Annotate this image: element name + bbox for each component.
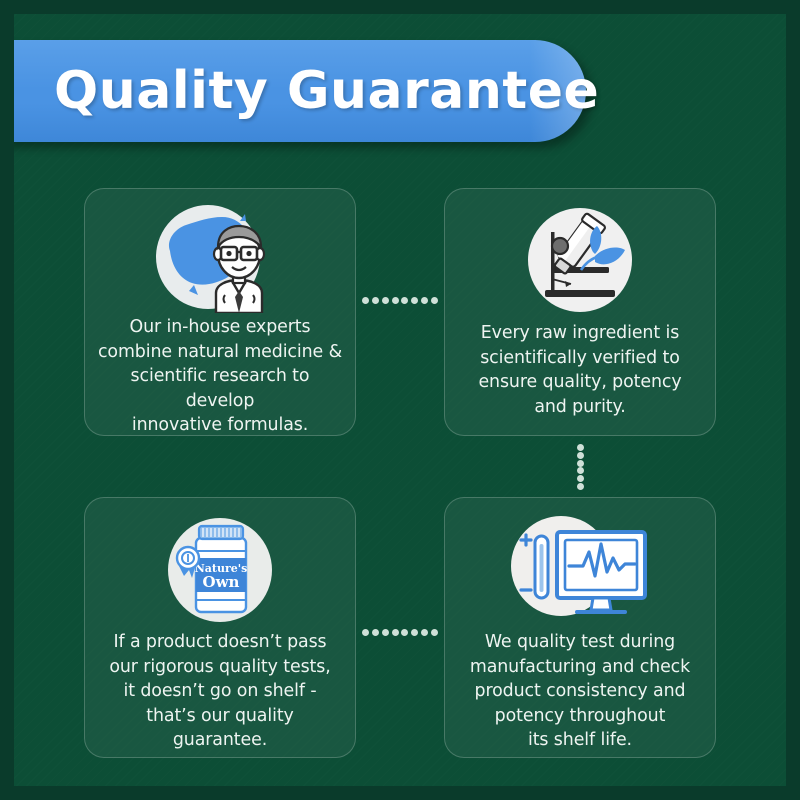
connector-dot [577, 460, 584, 467]
connector-dot [382, 297, 389, 304]
connector-dot [431, 629, 438, 636]
connector-dot [431, 297, 438, 304]
connector-dot [577, 475, 584, 482]
microscope-leaf-icon [521, 201, 639, 319]
connector-dot [362, 297, 369, 304]
connector-dot [392, 629, 399, 636]
connector-dot [577, 452, 584, 459]
card-manufacturing-quality-test: We quality test during manufacturing and… [444, 497, 716, 758]
card-text: We quality test during manufacturing and… [458, 630, 702, 753]
connector-dot [401, 629, 408, 636]
connector-dot [362, 629, 369, 636]
connector-dot [411, 629, 418, 636]
australia-map-scientist-icon [144, 201, 296, 313]
connector-dot [421, 629, 428, 636]
banner: Quality Guarantee [0, 40, 586, 142]
page-title: Quality Guarantee [54, 61, 599, 121]
connector-bottom-horizontal [362, 628, 438, 636]
bottle-label-line2: Own [203, 573, 240, 591]
connector-dot [577, 483, 584, 490]
connector-dot [577, 467, 584, 474]
connector-dot [411, 297, 418, 304]
connector-dot [372, 629, 379, 636]
connector-right-vertical [576, 444, 584, 490]
frame-edge-bottom [0, 786, 800, 800]
infographic-canvas: Quality Guarantee [0, 0, 800, 800]
natures-own-bottle-ribbon-icon: Nature's Own [157, 512, 283, 628]
connector-dot [392, 297, 399, 304]
connector-dot [382, 629, 389, 636]
connector-top-horizontal [362, 296, 438, 304]
connector-dot [577, 444, 584, 451]
frame-edge-top [0, 0, 800, 14]
monitor-thermometer-icon [505, 512, 655, 628]
card-text: Our in-house experts combine natural med… [85, 315, 355, 438]
frame-edge-left [0, 0, 14, 800]
card-text: If a product doesn’t pass our rigorous q… [85, 630, 355, 753]
connector-dot [372, 297, 379, 304]
frame-edge-right [786, 0, 800, 800]
connector-dot [421, 297, 428, 304]
connector-dot [401, 297, 408, 304]
card-text: Every raw ingredient is scientifically v… [466, 321, 693, 419]
card-raw-ingredient-verification: Every raw ingredient is scientifically v… [444, 188, 716, 436]
card-in-house-experts: Our in-house experts combine natural med… [84, 188, 356, 436]
card-quality-tests-shelf: Nature's Own If a product doesn’t pass o… [84, 497, 356, 758]
